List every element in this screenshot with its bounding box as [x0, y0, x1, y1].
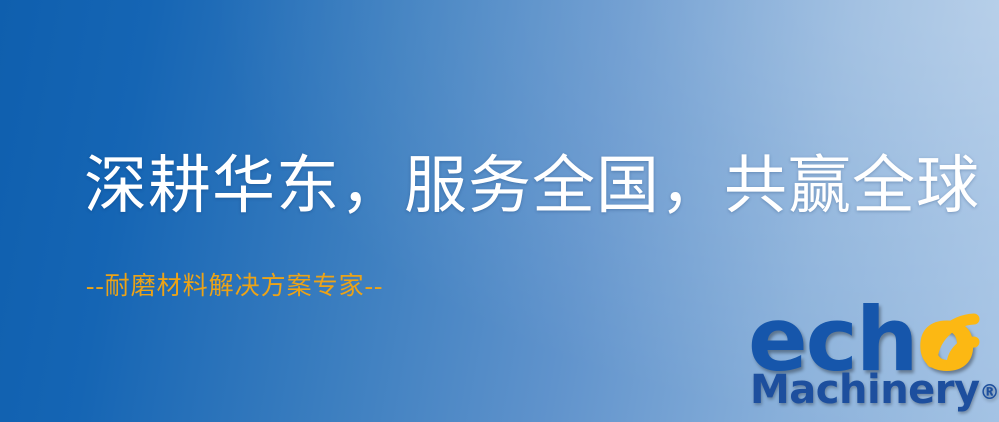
- promo-banner: 深耕华东，服务全国，共赢全球 --耐磨材料解决方案专家-- echo Machi…: [0, 0, 999, 422]
- banner-subtitle: --耐磨材料解决方案专家--: [86, 266, 383, 302]
- logo-subtitle-text: Machinery: [750, 367, 980, 413]
- banner-headline: 深耕华东，服务全国，共赢全球: [84, 152, 980, 221]
- signal-waves-icon: [916, 292, 999, 372]
- logo-subtitle: Machinery®: [750, 370, 999, 412]
- registered-trademark-icon: ®: [980, 380, 999, 404]
- echo-machinery-logo: echo Machinery®: [748, 296, 999, 422]
